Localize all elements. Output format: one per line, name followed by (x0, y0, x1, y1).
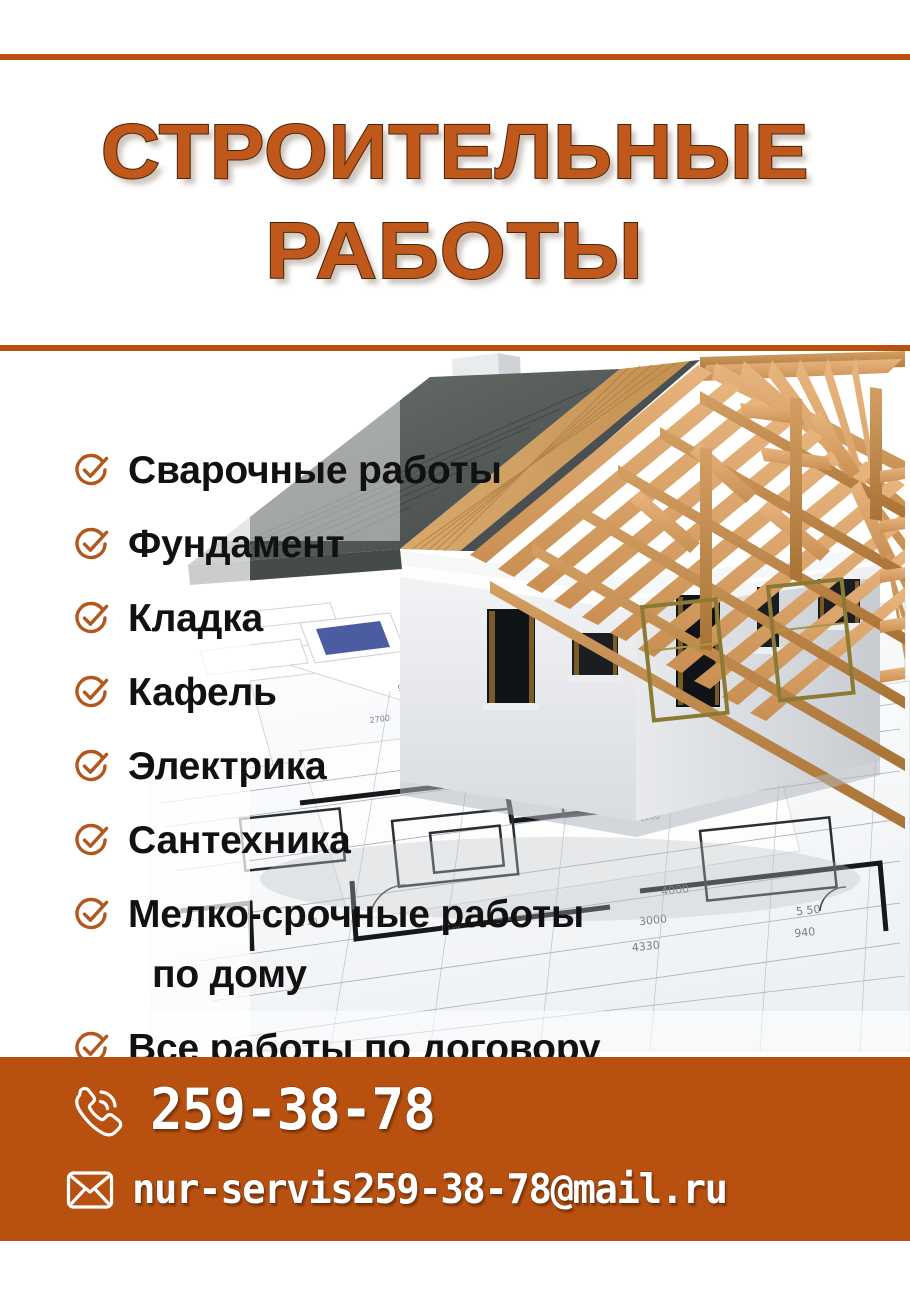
services-list: Сварочные работы Фундамент Кладка (0, 351, 910, 1057)
list-item: Сварочные работы (74, 445, 502, 495)
list-item: Электрика (74, 741, 327, 791)
service-label-continuation: по дому (152, 955, 307, 994)
list-item: Кафель (74, 667, 277, 717)
service-label: Мелко-срочные работы (128, 895, 584, 934)
construction-services-flyer: СТРОИТЕЛЬНЫЕ РАБОТЫ (0, 0, 910, 1292)
contact-footer: 259-38-78 nur-servis259-38-78@mail.ru (0, 1057, 910, 1241)
phone-contact-row[interactable]: 259-38-78 (66, 1079, 450, 1141)
check-circle-icon (74, 674, 110, 710)
email-address[interactable]: nur-servis259-38-78@mail.ru (132, 1169, 727, 1210)
service-label: Фундамент (128, 525, 344, 564)
check-circle-icon (74, 600, 110, 636)
service-label: Сантехника (128, 821, 351, 860)
list-item: Мелко-срочные работы (74, 889, 584, 939)
list-item-continuation: по дому (152, 949, 307, 999)
list-item: Кладка (74, 593, 263, 643)
page-title-line-2: РАБОТЫ (266, 210, 644, 292)
check-circle-icon (74, 452, 110, 488)
service-label: Кафель (128, 673, 277, 712)
check-circle-icon (74, 526, 110, 562)
service-label: Кладка (128, 599, 263, 638)
page-title-line-1: СТРОИТЕЛЬНЫЕ (101, 113, 810, 192)
poster-header: СТРОИТЕЛЬНЫЕ РАБОТЫ (0, 60, 910, 345)
email-contact-row[interactable]: nur-servis259-38-78@mail.ru (66, 1169, 758, 1210)
phone-number[interactable]: 259-38-78 (150, 1082, 435, 1139)
phone-icon (66, 1079, 128, 1141)
check-circle-icon (74, 822, 110, 858)
check-circle-icon (74, 748, 110, 784)
list-item: Фундамент (74, 519, 344, 569)
list-item: Сантехника (74, 815, 351, 865)
service-label: Электрика (128, 747, 327, 786)
service-label: Сварочные работы (128, 451, 502, 490)
envelope-icon (66, 1170, 114, 1210)
check-circle-icon (74, 896, 110, 932)
